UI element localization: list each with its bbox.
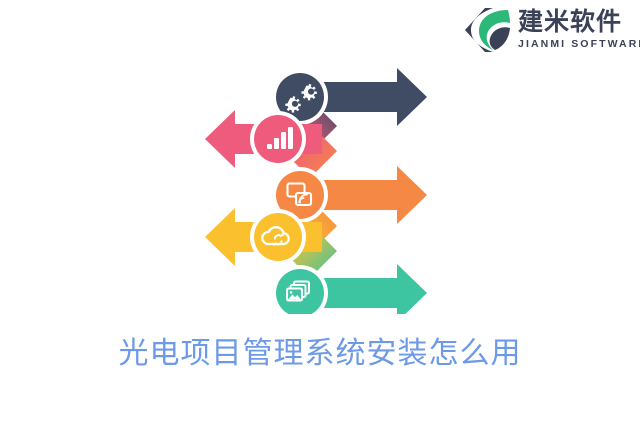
brand-text-block: 建米软件 JIANMI SOFTWARE xyxy=(518,10,640,50)
brand-logo: 建米软件 JIANMI SOFTWARE xyxy=(462,4,638,56)
step-4-disc xyxy=(254,213,302,261)
brand-subtitle: JIANMI SOFTWARE xyxy=(518,39,640,50)
process-infographic xyxy=(182,62,450,314)
step-5-photo-gallery[interactable] xyxy=(272,264,427,314)
jianmi-leaf-logo-icon xyxy=(462,6,512,54)
page-title: 光电项目管理系统安装怎么用 xyxy=(0,328,640,372)
page-root: 建米软件 JIANMI SOFTWARE xyxy=(0,0,640,427)
brand-name: 建米软件 xyxy=(518,10,640,35)
